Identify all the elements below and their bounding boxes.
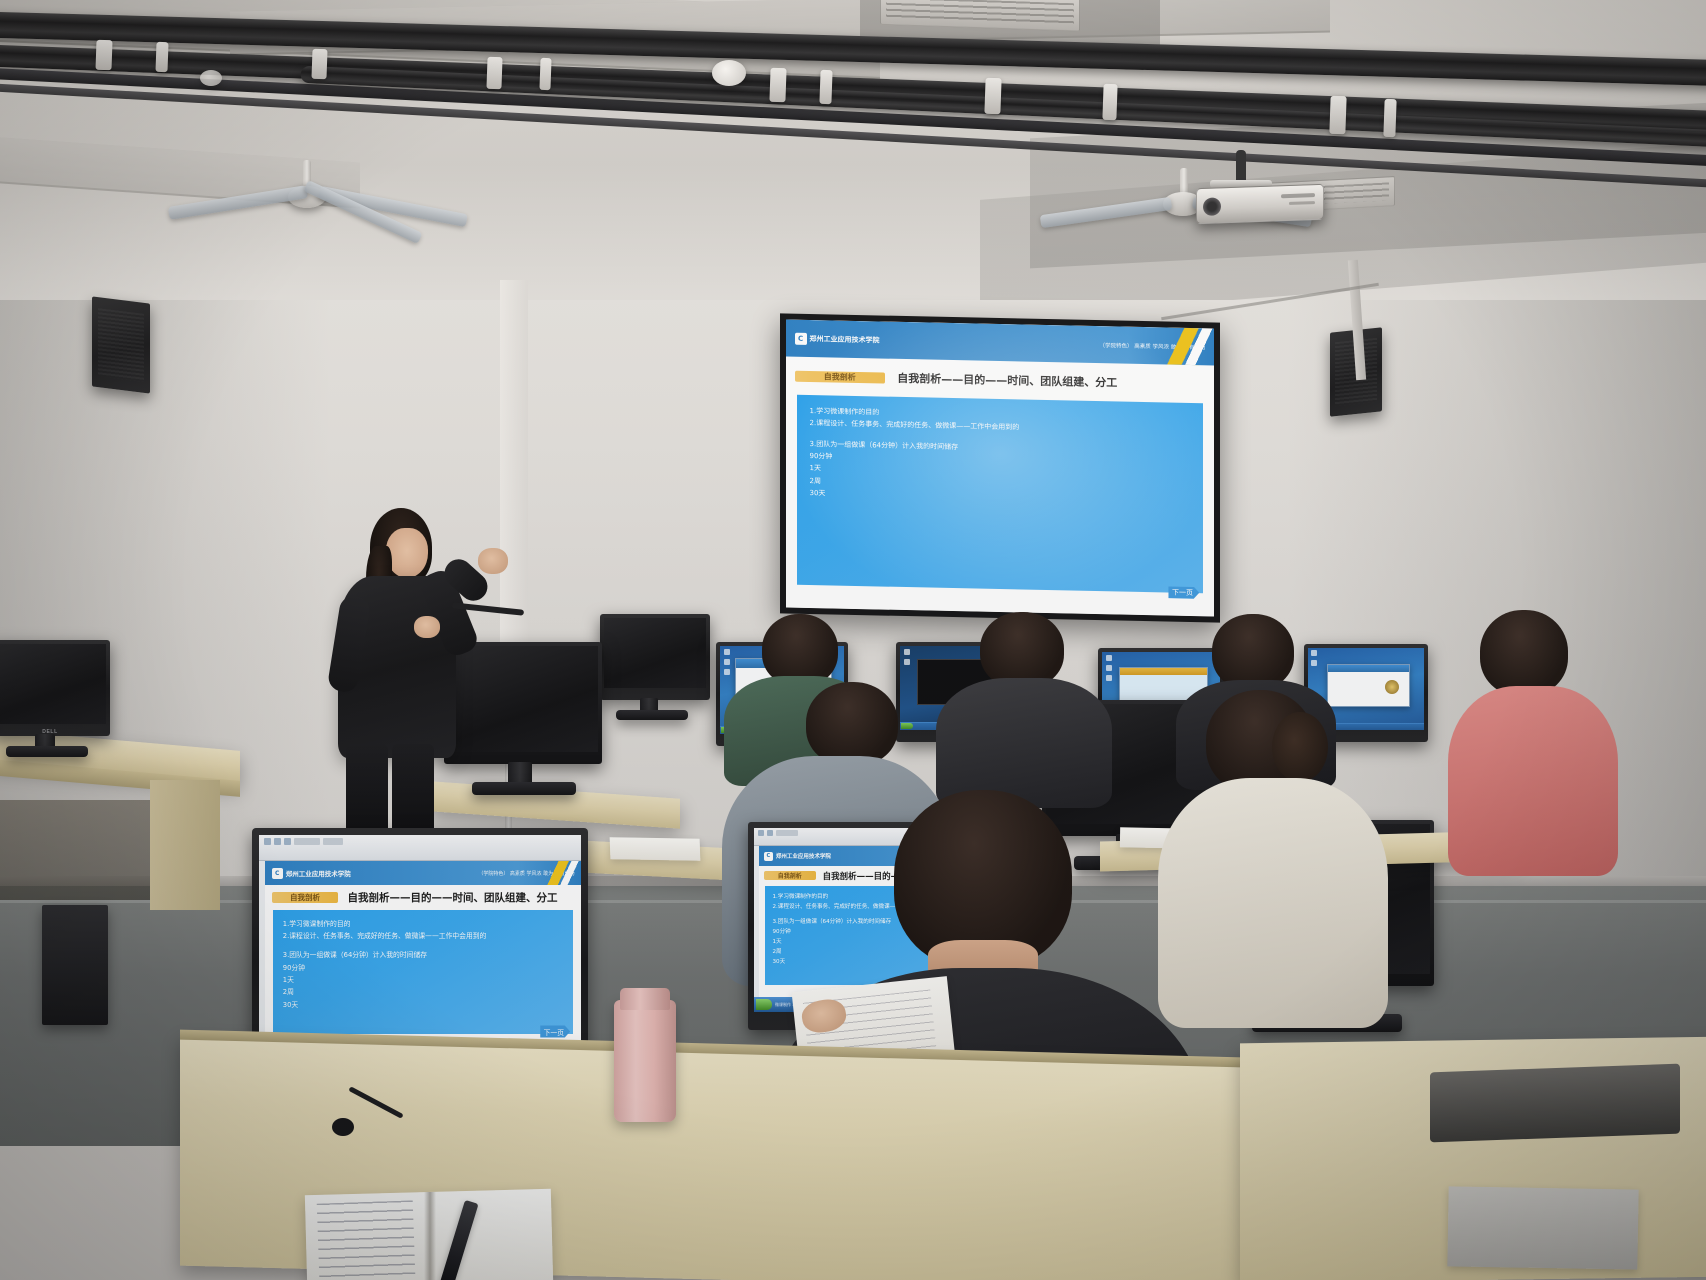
thermos-cap	[620, 988, 670, 1010]
pipe-band-4	[486, 57, 502, 90]
slide-logo-text: 郑州工业应用技术学院	[810, 334, 880, 345]
slide-bullet: 1天	[283, 974, 564, 984]
slide-logo-text: 郑州工业应用技术学院	[286, 868, 351, 878]
logo-icon: C	[764, 852, 773, 861]
ppt-app-toolbar	[259, 835, 581, 861]
monitor-stand-base	[6, 746, 88, 757]
slide-corner-decoration	[1146, 327, 1214, 366]
desk-back-left-shelf	[0, 800, 150, 900]
pink-thermos	[614, 1000, 676, 1122]
monitor-back-center	[600, 614, 710, 700]
logo-icon: C	[272, 868, 283, 879]
pipe-band-5	[539, 58, 551, 90]
paper-far-right	[1447, 1186, 1638, 1269]
keyboard-right[interactable]	[1430, 1064, 1680, 1143]
slide-logo-text: 郑州工业应用技术学院	[776, 852, 831, 860]
smoke-detector-icon	[712, 60, 746, 86]
pipe-band-11	[1383, 99, 1396, 137]
wall-speaker-left	[92, 296, 150, 393]
slide-bullet: 2.课程设计、任务事务、完成好的任务、做微课——工作中会用到的	[283, 930, 564, 940]
slide-logo: C 郑州工业应用技术学院	[795, 332, 880, 346]
slide-next-button[interactable]: 下一页	[1168, 586, 1199, 599]
desk-back-left-leg	[150, 780, 220, 910]
pipe-band-1	[95, 40, 112, 71]
slide-section-tag: 自我剖析	[272, 892, 339, 903]
monitor-stand-neck	[508, 762, 532, 784]
slide-bullet: 90分钟	[283, 962, 564, 972]
monitor-brand: DELL	[0, 729, 110, 735]
paper-sheet-mid	[610, 837, 701, 861]
instructor-gesturing-hand	[478, 548, 508, 574]
ceiling-sprinkler-icon	[200, 70, 222, 86]
pipe-band-6	[769, 68, 786, 103]
slide-bullet: 30天	[283, 999, 564, 1009]
projection-screen: C 郑州工业应用技术学院 （学院特色） 高素质 学风浓 敢为先 有作为 自我剖析…	[780, 313, 1220, 622]
monitor-cable-end	[332, 1118, 354, 1136]
pipe-band-7	[819, 70, 832, 104]
slide-next-button[interactable]: 下一页	[540, 1025, 570, 1037]
pipe-band-2	[155, 42, 168, 72]
slide-title: 自我剖析——目的——时间、团队组建、分工	[347, 890, 557, 905]
slide-title: 自我剖析——目的——时间、团队组建、分工	[897, 370, 1117, 391]
monitor-back-facing-left	[444, 642, 602, 764]
classroom-photo: C 郑州工业应用技术学院 （学院特色） 高素质 学风浓 敢为先 有作为 自我剖析…	[0, 0, 1706, 1280]
pipe-band-10	[1329, 96, 1346, 135]
pipe-band-9	[1102, 84, 1117, 120]
monitor-stand-base	[616, 710, 688, 720]
notebook-handwriting	[317, 1200, 416, 1277]
pipe-band-3	[311, 49, 327, 80]
logo-icon: C	[795, 332, 807, 344]
slide-section-tag: 自我剖析	[764, 871, 816, 880]
monitor-stand-base	[472, 782, 576, 795]
monitor-back-far-left: DELL	[0, 640, 110, 736]
slide-bullet: 2周	[283, 986, 564, 996]
slide-bullet: 1.学习微课制作的目的	[283, 918, 564, 928]
slide-section-tag: 自我剖析	[795, 370, 885, 383]
notebook-spine	[424, 1192, 436, 1280]
pipe-band-8	[984, 78, 1001, 115]
slide-bullet: 3.团队为一组做课（64分钟）计入我的时间储存	[283, 949, 564, 959]
pc-tower-left	[42, 905, 108, 1025]
start-button[interactable]	[756, 999, 772, 1009]
